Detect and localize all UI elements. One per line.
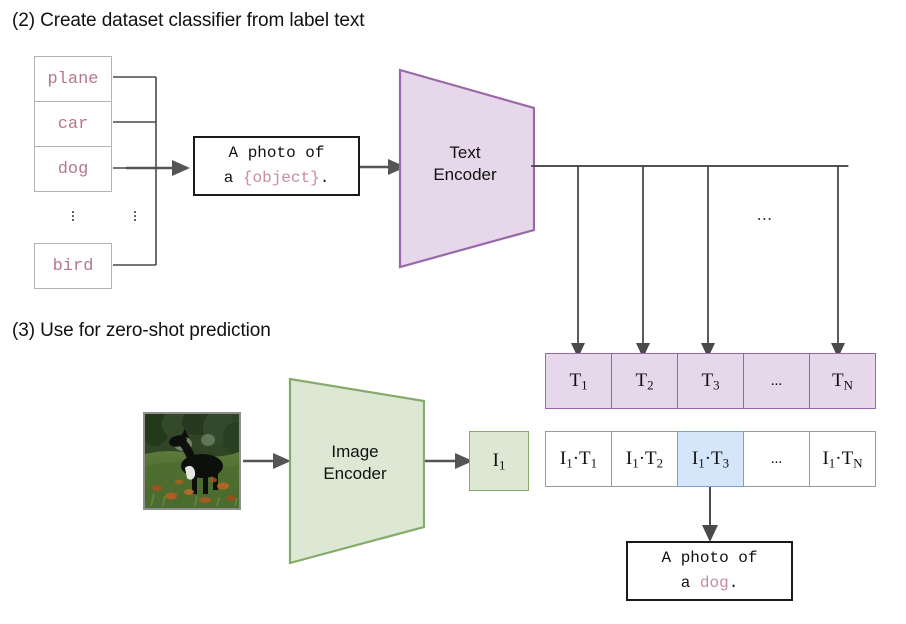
prediction-line-2-suffix: . xyxy=(729,574,739,592)
text-embedding-label-3: T3 xyxy=(701,370,719,392)
similarity-cell-ellipsis: ... xyxy=(743,431,810,487)
label-text-dog: dog xyxy=(58,160,89,179)
arrow-image-encoder-to-embedding xyxy=(425,445,475,477)
label-text-plane: plane xyxy=(47,70,98,89)
input-photo xyxy=(143,412,241,510)
prompt-line-2-suffix: . xyxy=(320,169,330,187)
prediction-output-box: A photo of a dog. xyxy=(626,541,793,601)
image-encoder-line-2: Encoder xyxy=(285,463,425,485)
text-embedding-cell-n: TN xyxy=(809,353,876,409)
label-box-car: car xyxy=(34,101,112,147)
similarity-label-n: I1·TN xyxy=(822,448,862,470)
text-encoder-fanout-arrows xyxy=(530,160,890,360)
text-embedding-label-1: T1 xyxy=(569,370,587,392)
input-photo-illustration xyxy=(145,414,239,508)
text-embedding-label-n: TN xyxy=(832,370,853,392)
similarity-cell-n: I1·TN xyxy=(809,431,876,487)
prompt-line-1: A photo of xyxy=(228,141,324,166)
prediction-line-2: a dog. xyxy=(681,571,739,596)
text-encoder-label: Text Encoder xyxy=(395,142,535,186)
prompt-line-2-prefix: a xyxy=(224,169,243,187)
similarity-ellipsis-label: ... xyxy=(771,451,782,468)
label-text-bird: bird xyxy=(53,257,94,276)
arrow-selected-to-prediction xyxy=(695,487,727,543)
fanout-ellipsis: ... xyxy=(757,205,773,225)
label-box-dog: dog xyxy=(34,146,112,192)
image-embedding-label: I1 xyxy=(493,450,506,472)
text-encoder: Text Encoder xyxy=(395,66,535,271)
text-encoder-line-1: Text xyxy=(395,142,535,164)
text-embedding-cell-3: T3 xyxy=(677,353,744,409)
prediction-line-2-prefix: a xyxy=(681,574,700,592)
text-embedding-cell-1: T1 xyxy=(545,353,612,409)
label-text-car: car xyxy=(58,115,89,134)
similarity-cell-1: I1·T1 xyxy=(545,431,612,487)
step2-heading: (2) Create dataset classifier from label… xyxy=(12,10,364,32)
clip-zero-shot-figure: (2) Create dataset classifier from label… xyxy=(0,0,906,624)
image-encoder: Image Encoder xyxy=(285,375,425,567)
step3-heading: (3) Use for zero-shot prediction xyxy=(12,320,271,342)
similarity-label-3: I1·T3 xyxy=(692,448,729,470)
image-encoder-line-1: Image xyxy=(285,441,425,463)
text-encoder-line-2: Encoder xyxy=(395,164,535,186)
text-embedding-ellipsis-label: ... xyxy=(771,373,782,390)
text-embedding-label-2: T2 xyxy=(635,370,653,392)
label-column-ellipsis-icon: ... xyxy=(63,206,83,218)
prompt-object-slot: {object} xyxy=(243,169,320,187)
label-box-plane: plane xyxy=(34,56,112,102)
text-embedding-cell-ellipsis: ... xyxy=(743,353,810,409)
arrow-labels-to-prompt xyxy=(126,152,192,184)
prediction-class-slot: dog xyxy=(700,574,729,592)
similarity-cell-3-selected: I1·T3 xyxy=(677,431,744,487)
image-embedding-box: I1 xyxy=(469,431,529,491)
similarity-label-1: I1·T1 xyxy=(560,448,597,470)
prompt-template-box: A photo of a {object}. xyxy=(193,136,360,196)
prediction-line-1: A photo of xyxy=(661,546,757,571)
similarity-label-2: I1·T2 xyxy=(626,448,663,470)
image-encoder-label: Image Encoder xyxy=(285,441,425,485)
prompt-line-2: a {object}. xyxy=(224,166,330,191)
label-box-bird: bird xyxy=(34,243,112,289)
text-embedding-cell-2: T2 xyxy=(611,353,678,409)
similarity-cell-2: I1·T2 xyxy=(611,431,678,487)
